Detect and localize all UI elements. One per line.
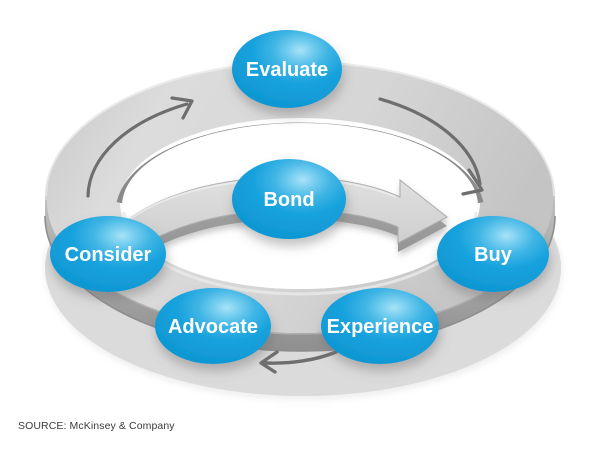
- node-experience-label: Experience: [327, 316, 434, 338]
- source-note: SOURCE: McKinsey & Company: [18, 420, 175, 432]
- node-experience[interactable]: Experience: [321, 288, 439, 364]
- node-consider[interactable]: Consider: [50, 216, 166, 292]
- node-evaluate-label: Evaluate: [246, 59, 328, 81]
- diagram-canvas: Evaluate Consider Buy Bond Advocate: [0, 0, 600, 450]
- node-bond-label: Bond: [263, 189, 314, 211]
- decision-journey-diagram: Evaluate Consider Buy Bond Advocate: [0, 0, 600, 450]
- node-advocate[interactable]: Advocate: [155, 288, 271, 364]
- node-buy-label: Buy: [474, 244, 513, 266]
- node-buy[interactable]: Buy: [437, 216, 549, 292]
- node-evaluate[interactable]: Evaluate: [232, 30, 342, 108]
- node-consider-label: Consider: [65, 244, 152, 266]
- node-advocate-label: Advocate: [168, 316, 258, 338]
- node-bond[interactable]: Bond: [232, 159, 346, 239]
